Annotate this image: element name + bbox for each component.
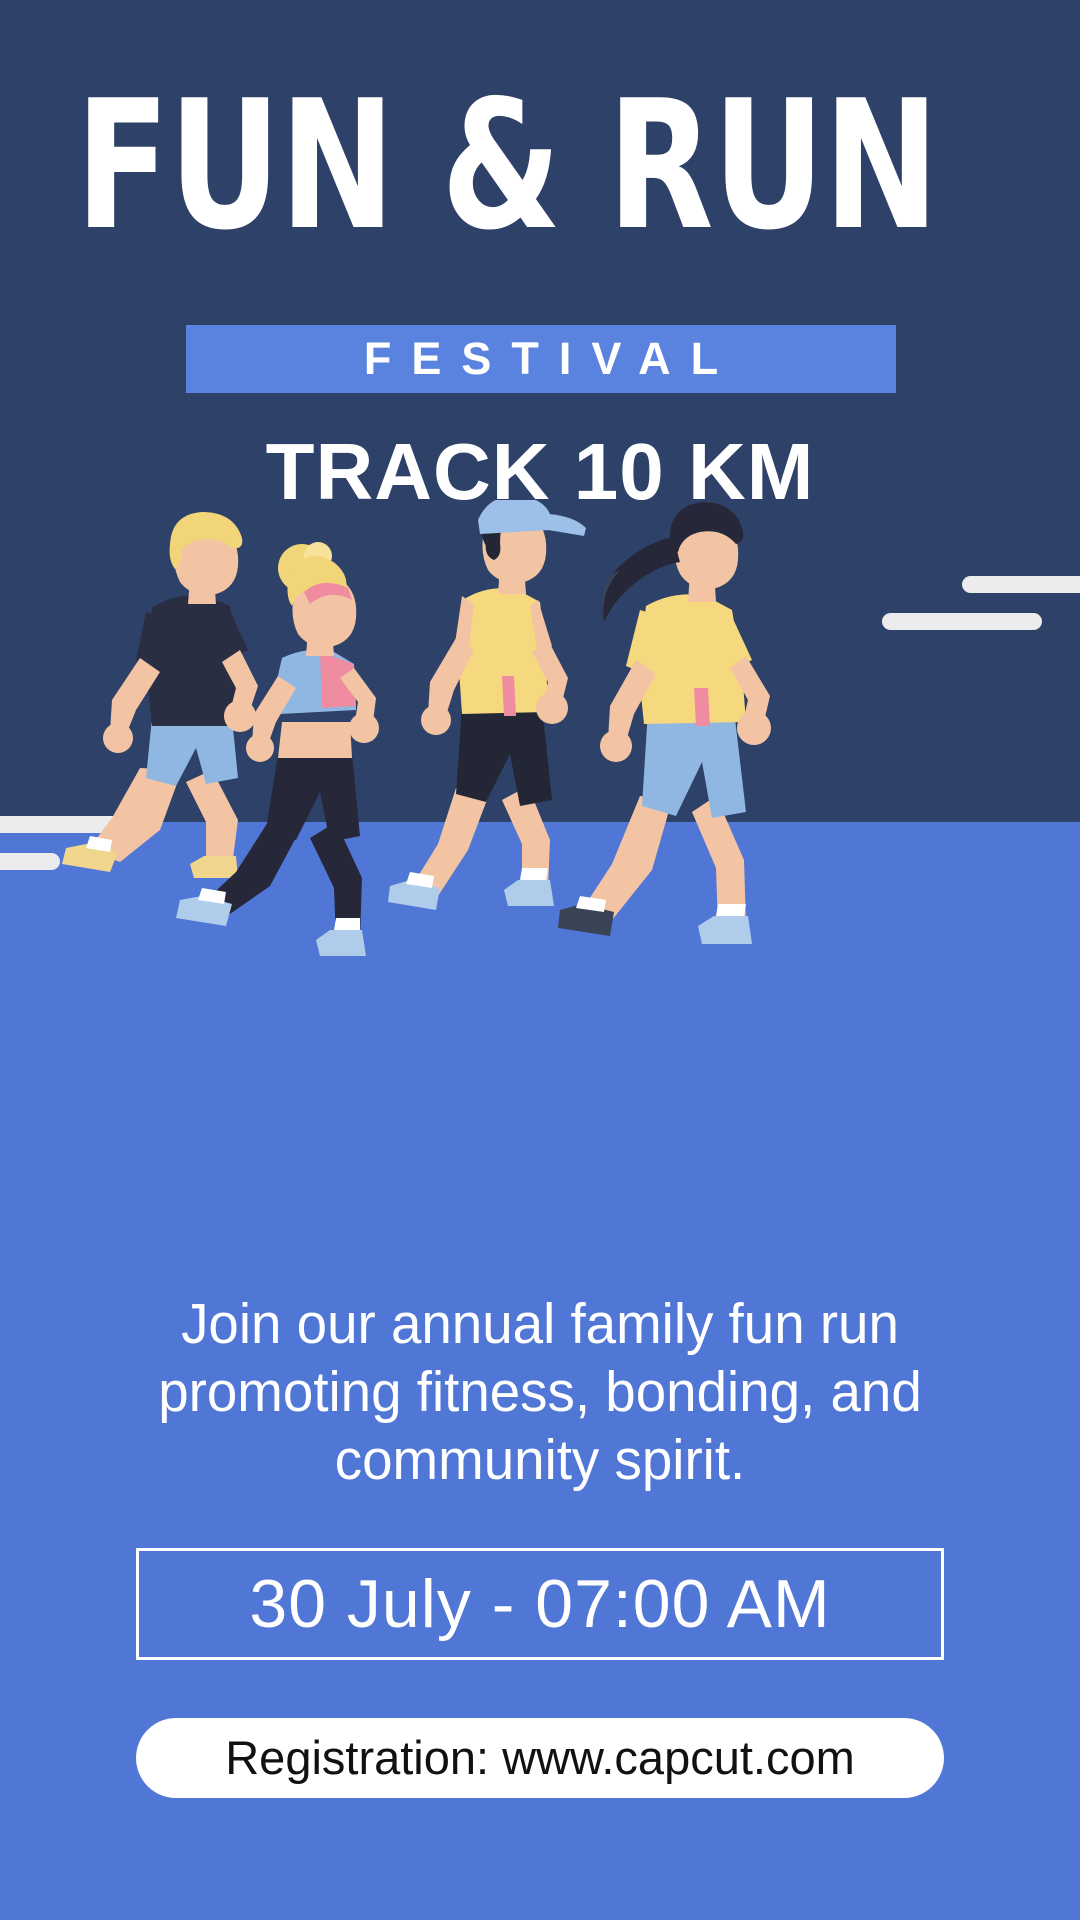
- runner-4: [558, 502, 771, 944]
- poster-canvas: FUN & RUN FESTIVAL TRACK 10 KM: [0, 0, 1080, 1920]
- festival-label: FESTIVAL: [186, 325, 896, 393]
- event-date-time: 30 July - 07:00 AM: [136, 1548, 944, 1660]
- page-title: FUN & RUN: [76, 86, 1005, 246]
- description-line-1: Join our annual family fun run: [108, 1290, 972, 1358]
- runner-3: [388, 500, 586, 910]
- four-runners-illustration: [0, 500, 1080, 1060]
- description-line-2: promoting fitness, bonding, and: [108, 1358, 972, 1426]
- event-description: Join our annual family fun run promoting…: [108, 1290, 972, 1494]
- runner-1: [62, 512, 258, 878]
- description-line-3: community spirit.: [108, 1426, 972, 1494]
- registration-button-label[interactable]: Registration: www.capcut.com: [136, 1718, 944, 1798]
